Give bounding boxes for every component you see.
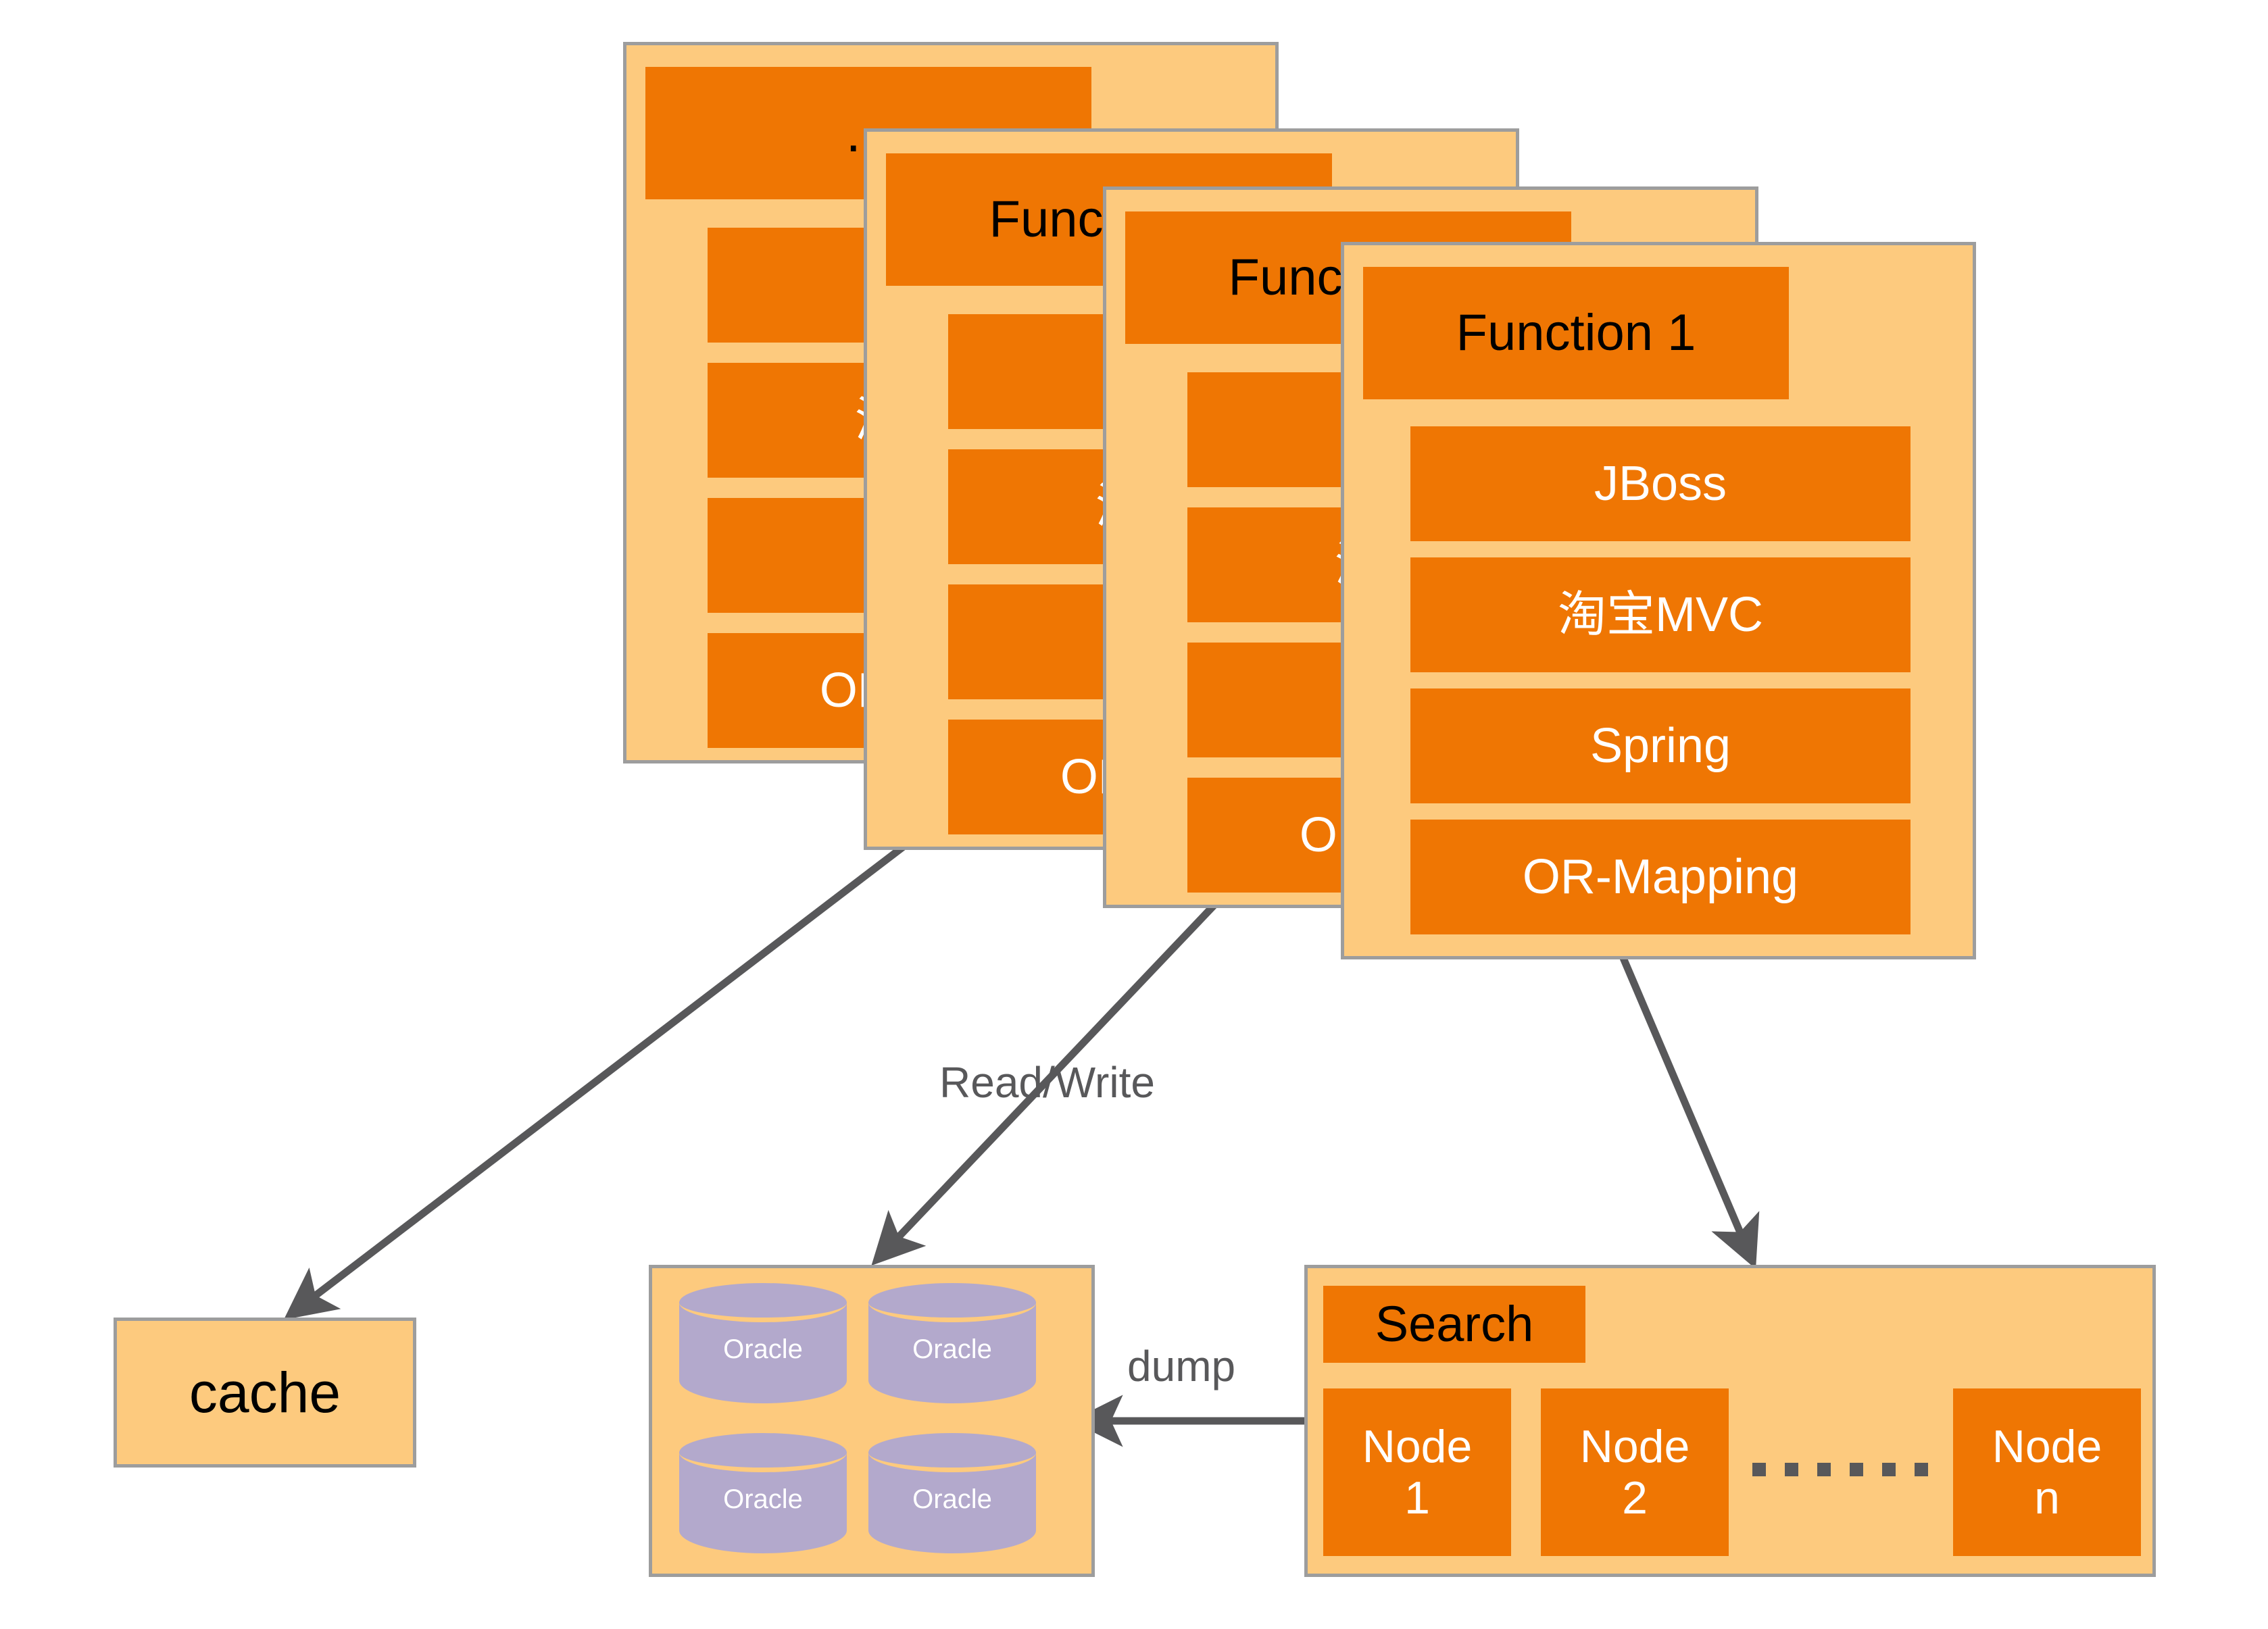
ellipsis-dot	[1817, 1463, 1831, 1476]
search-node-1-name: Node	[1362, 1421, 1473, 1472]
search-node-2-index: 2	[1622, 1472, 1648, 1524]
ellipsis-dot	[1882, 1463, 1896, 1476]
oracle-label: Oracle	[679, 1486, 847, 1513]
oracle-database-cylinder[interactable]: Oracle	[868, 1433, 1036, 1553]
search-node-n[interactable]: Node n	[1953, 1388, 2141, 1556]
node-ellipsis-icon	[1752, 1463, 1928, 1476]
function-card-1[interactable]: Function 1 JBoss 淘宝MVC Spring OR-Mapping	[1341, 242, 1976, 959]
oracle-label: Oracle	[679, 1336, 847, 1363]
function-card-1-row-jboss: JBoss	[1410, 426, 1910, 541]
cylinder-top-ellipse	[679, 1433, 847, 1472]
ellipsis-dot	[1785, 1463, 1798, 1476]
function-card-1-row-or-mapping: OR-Mapping	[1410, 820, 1910, 934]
edge-label-dump: dump	[1127, 1345, 1235, 1388]
edge-card1-to-search	[1623, 958, 1752, 1259]
oracle-label: Oracle	[868, 1486, 1036, 1513]
search-cluster-panel[interactable]: Search Node 1 Node 2 Node n	[1304, 1265, 2156, 1577]
oracle-cluster-panel[interactable]: Oracle Oracle Oracle Oracle	[649, 1265, 1095, 1577]
cylinder-top-ellipse	[679, 1283, 847, 1322]
search-node-n-name: Node	[1992, 1421, 2102, 1472]
oracle-database-cylinder[interactable]: Oracle	[868, 1283, 1036, 1403]
edge-label-read-write: Read/Write	[939, 1061, 1155, 1104]
cylinder-top-ellipse	[868, 1433, 1036, 1472]
search-header-label: Search	[1323, 1286, 1585, 1363]
ellipsis-dot	[1752, 1463, 1766, 1476]
diagram-canvas: ... JBoss 淘宝MVC Spring OR-Mapping Functi…	[0, 0, 2268, 1629]
search-node-n-index: n	[2034, 1472, 2060, 1524]
cylinder-top-ellipse	[868, 1283, 1036, 1322]
oracle-database-cylinder[interactable]: Oracle	[679, 1433, 847, 1553]
function-card-1-row-spring: Spring	[1410, 688, 1910, 803]
ellipsis-dot	[1850, 1463, 1863, 1476]
function-card-1-rows: JBoss 淘宝MVC Spring OR-Mapping	[1344, 245, 1973, 956]
search-node-2-name: Node	[1580, 1421, 1690, 1472]
search-node-2[interactable]: Node 2	[1541, 1388, 1729, 1556]
cache-label: cache	[189, 1364, 341, 1421]
oracle-label: Oracle	[868, 1336, 1036, 1363]
search-node-1[interactable]: Node 1	[1323, 1388, 1511, 1556]
search-node-1-index: 1	[1404, 1472, 1430, 1524]
function-card-1-row-taobao-mvc: 淘宝MVC	[1410, 557, 1910, 672]
oracle-database-cylinder[interactable]: Oracle	[679, 1283, 847, 1403]
cache-box[interactable]: cache	[114, 1318, 416, 1468]
ellipsis-dot	[1915, 1463, 1928, 1476]
